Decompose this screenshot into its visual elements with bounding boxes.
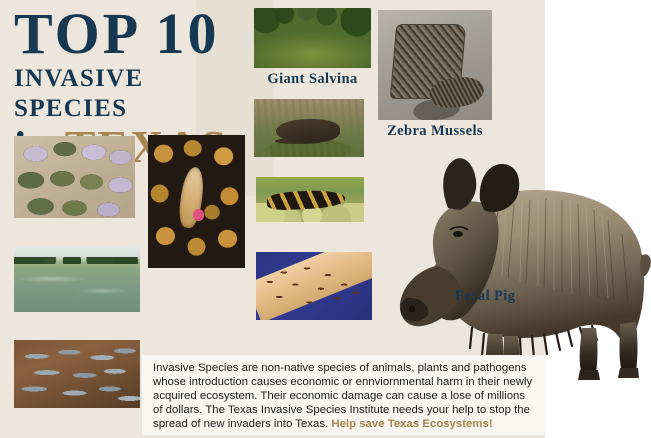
title-line-middle: INVASIVE SPECIES <box>14 64 264 124</box>
species-card-asian-clam: Asian Clam <box>14 136 135 218</box>
species-card-zebra-mussels: Zebra Mussels <box>378 10 492 120</box>
black-tiger-shrimp-photo <box>256 177 364 222</box>
species-card-africanized-honeybee: Africanized HoneyBee <box>148 135 245 268</box>
species-card-black-tiger-shrimp: Black Tiger Shrimp <box>256 177 364 222</box>
queen-bee-marker-dot <box>193 209 205 221</box>
call-to-action-text: Help save Texas Ecosystems! <box>331 418 492 430</box>
species-card-nutria: Nutria <box>254 99 364 157</box>
feral-pig-photo <box>396 146 651 384</box>
giant-salvina-label: Giant Salvina <box>267 71 357 87</box>
africanized-honeybee-photo <box>148 135 245 268</box>
red-imported-fire-ant-photo <box>256 252 372 320</box>
hydrilla-photo <box>14 247 140 312</box>
giant-salvina-photo <box>254 8 371 68</box>
nutria-photo <box>254 99 364 157</box>
zebra-mussels-photo <box>378 10 492 120</box>
title-line-top: TOP 10 <box>14 4 264 64</box>
description-panel: Invasive Species are non-native species … <box>142 355 546 435</box>
species-card-asian-carp: Asian Carp <box>14 340 140 408</box>
species-card-giant-salvina: Giant Salvina <box>254 8 371 68</box>
species-card-hydrilla: Hydrilla <box>14 247 140 312</box>
asian-carp-photo <box>14 340 140 408</box>
zebra-mussels-label: Zebra Mussels <box>387 123 483 139</box>
species-card-red-imported-fire-ant: Red Imported Fire Ant <box>256 252 372 320</box>
asian-clam-photo <box>14 136 135 218</box>
infographic-poster: TOP 10 INVASIVE SPECIES in TEXAS Giant S… <box>0 0 651 438</box>
feral-pig-label: Feral Pig <box>455 288 515 304</box>
